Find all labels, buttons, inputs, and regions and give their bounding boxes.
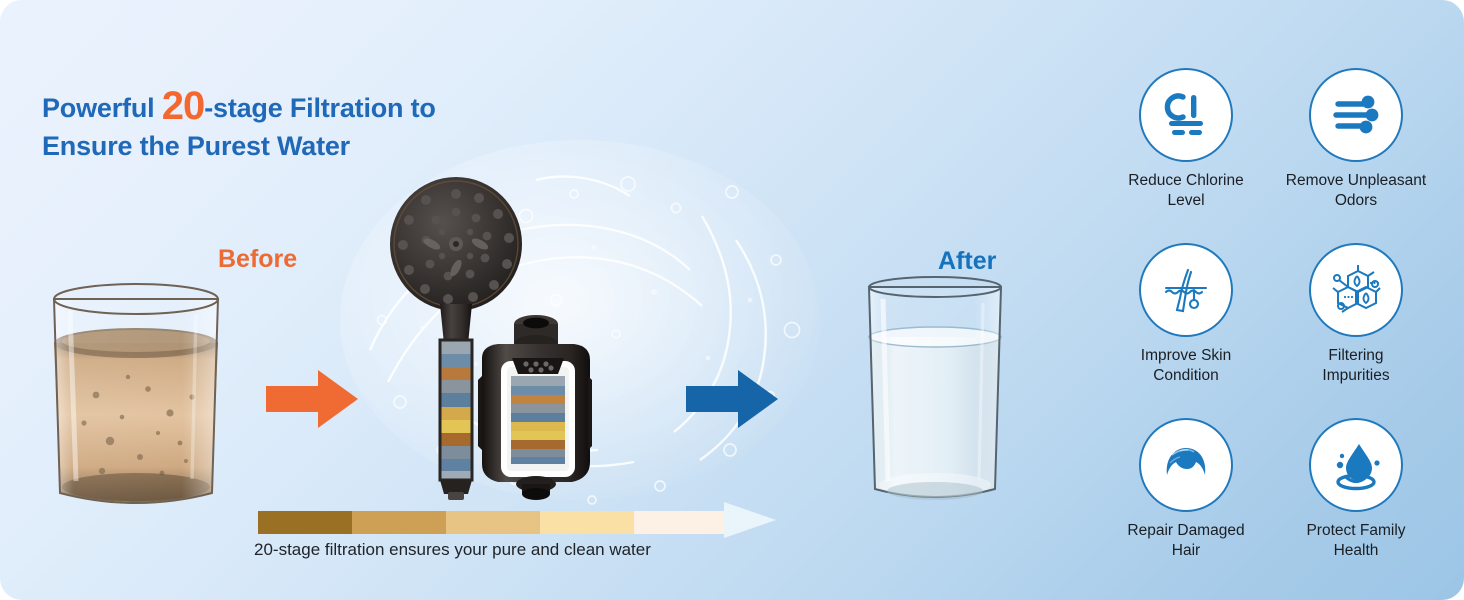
feature-reduce-chlorine[interactable]: Reduce ChlorineLevel [1106, 68, 1266, 243]
after-label: After [938, 247, 996, 276]
progress-caption: 20-stage filtration ensures your pure an… [254, 540, 651, 560]
headline-prefix: Powerful [42, 93, 162, 123]
feature-icon-circle [1139, 243, 1233, 337]
feature-protect-health[interactable]: Protect FamilyHealth [1276, 418, 1436, 593]
arrow-shape [266, 370, 358, 428]
feature-filtering-impurities[interactable]: FilteringImpurities [1276, 243, 1436, 418]
arrow-before-to-product [266, 368, 358, 430]
filtration-progress-bar [258, 508, 818, 544]
skin-follicle-icon [1158, 262, 1214, 318]
progress-arrow-head [724, 502, 776, 538]
product-banner: Powerful 20-stage Filtration to Ensure t… [0, 0, 1464, 600]
feature-improve-skin[interactable]: Improve SkinCondition [1106, 243, 1266, 418]
feature-icon-circle [1139, 418, 1233, 512]
feature-icon-circle [1309, 243, 1403, 337]
stage-swatch-2 [352, 511, 446, 534]
stage-swatch-1 [258, 511, 352, 534]
water-drop-ripple-icon [1328, 437, 1384, 493]
arrow-shape [686, 370, 778, 428]
arrow-product-to-after [686, 368, 778, 430]
progress-stages [258, 511, 728, 534]
before-glass-dirty-water [36, 265, 236, 515]
feature-repair-hair[interactable]: Repair DamagedHair [1106, 418, 1266, 593]
headline-line-2: Ensure the Purest Water [42, 131, 350, 161]
hair-icon [1158, 437, 1214, 493]
feature-icon-circle [1309, 418, 1403, 512]
feature-label: Improve SkinCondition [1141, 346, 1231, 386]
shower-filter-housing [470, 302, 600, 502]
feature-label: Protect FamilyHealth [1306, 521, 1405, 561]
after-glass-clean-water [855, 275, 1015, 510]
feature-label: FilteringImpurities [1322, 346, 1389, 386]
wind-odor-icon [1328, 87, 1384, 143]
headline: Powerful 20-stage Filtration to Ensure t… [42, 86, 662, 166]
stage-swatch-3 [446, 511, 540, 534]
feature-remove-odors[interactable]: Remove UnpleasantOdors [1276, 68, 1436, 243]
before-label: Before [218, 245, 297, 274]
feature-grid: Reduce ChlorineLevel Remove UnpleasantOd… [1106, 68, 1436, 588]
feature-icon-circle [1309, 68, 1403, 162]
feature-label: Repair DamagedHair [1127, 521, 1244, 561]
headline-highlight-number: 20 [162, 84, 205, 128]
headline-suffix: -stage Filtration to [204, 93, 436, 123]
feature-label: Remove UnpleasantOdors [1286, 171, 1426, 211]
molecule-filter-icon [1328, 262, 1384, 318]
feature-label: Reduce ChlorineLevel [1128, 171, 1243, 211]
chlorine-icon [1158, 87, 1214, 143]
stage-swatch-5 [634, 511, 728, 534]
stage-swatch-4 [540, 511, 634, 534]
feature-icon-circle [1139, 68, 1233, 162]
